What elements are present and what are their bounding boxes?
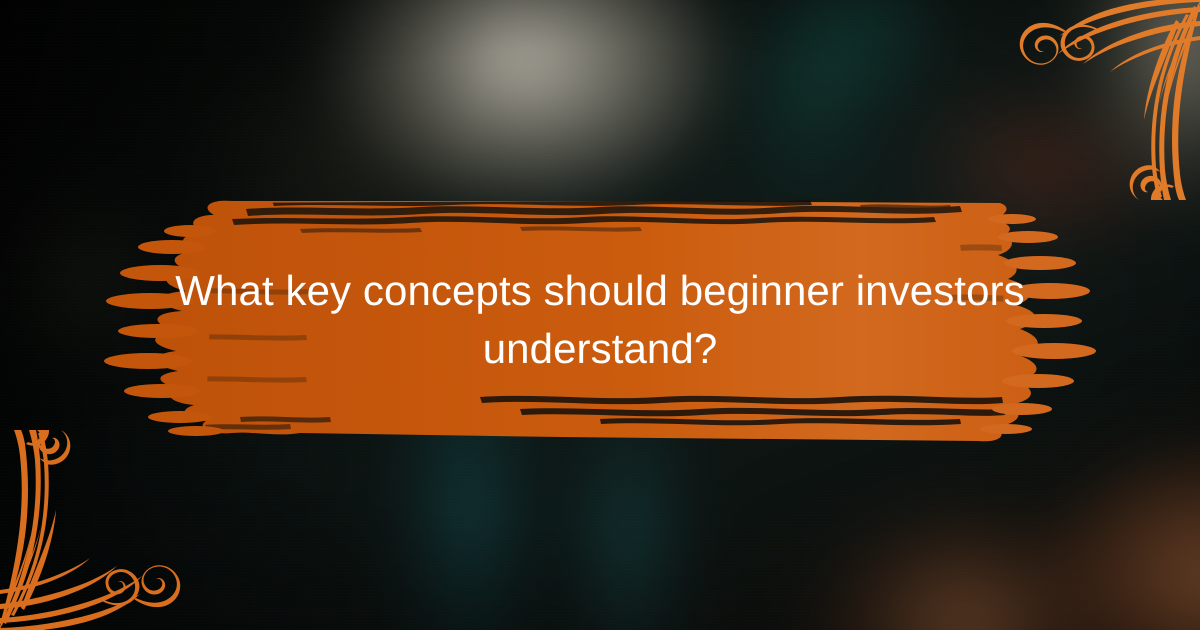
page-title: What key concepts should beginner invest… — [160, 262, 1040, 377]
question-card: What key concepts should beginner invest… — [0, 0, 1200, 630]
